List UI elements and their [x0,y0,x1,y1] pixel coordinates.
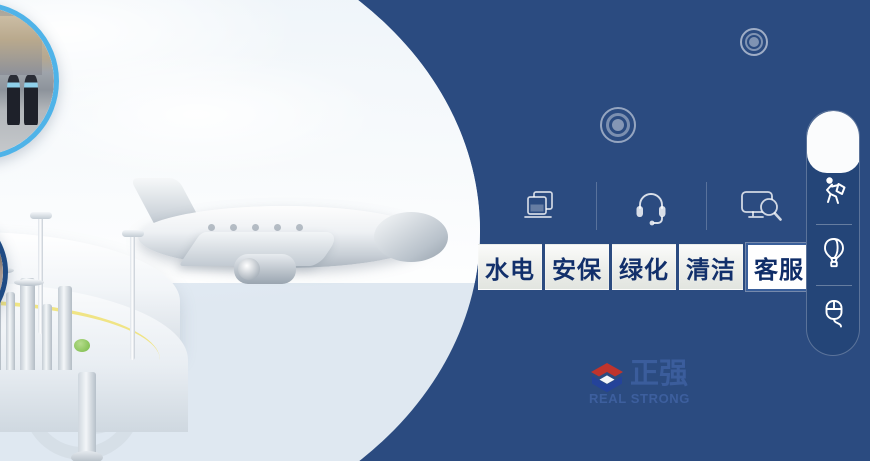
feature-icon-cell[interactable] [596,178,706,234]
airplane-window [252,224,259,231]
ring-marker-middle [600,107,636,143]
airplane-window [274,224,281,231]
tab-landscaping[interactable]: 绿化 [612,244,676,290]
airplane-window [296,224,303,231]
feature-icon-row [486,178,816,234]
airplane-graphic [138,176,438,294]
street-lamp [130,234,135,360]
airplane-engine [234,254,296,284]
road-pillar [78,372,96,458]
city-tower [58,286,72,370]
windows-stack-icon[interactable] [521,186,561,226]
city-tower [6,292,15,370]
monitor-search-icon[interactable] [738,186,784,226]
building-backdrop [0,16,42,75]
toolbar-item-mouse[interactable] [807,285,860,346]
feature-icon-cell[interactable] [486,178,596,234]
toolbar-item-running[interactable] [807,163,860,224]
headset-icon[interactable] [631,186,671,226]
logo-chinese-name: 正强 [630,356,688,390]
computer-mouse-icon[interactable] [820,297,848,334]
guard-figure [7,75,20,125]
toolbar-item-balloon[interactable] [807,224,860,285]
city-tower [20,278,35,370]
brand-logo[interactable]: 正强 REAL STRONG [588,358,700,408]
guard-figure [24,75,37,125]
city-tree [74,339,90,352]
ring-marker-top-right [740,28,768,56]
cloud-decoration [10,50,383,179]
logo-english-name: REAL STRONG [589,391,690,406]
toolbar-item-list [807,163,860,346]
airplane-nose [374,212,448,262]
tab-cleaning[interactable]: 清洁 [679,244,743,290]
tower-disc [14,279,44,286]
side-toolbar [806,110,860,356]
city-tower [42,304,52,370]
airplane-window [208,224,215,231]
promo-banner: 水电 安保 绿化 清洁 客服 正强 REAL STRONG [0,0,870,461]
tab-security[interactable]: 安保 [545,244,609,290]
tab-customer-service[interactable]: 客服 [746,243,812,291]
service-tab-group: 水电 安保 绿化 清洁 客服 [478,244,812,291]
running-person-icon[interactable] [819,175,849,212]
feature-icon-cell[interactable] [706,178,816,234]
tab-utilities[interactable]: 水电 [478,244,542,290]
city-skyline-graphic [0,190,100,370]
hot-air-balloon-icon[interactable] [820,236,848,273]
airplane-window [230,224,237,231]
collage-panel [0,0,480,461]
